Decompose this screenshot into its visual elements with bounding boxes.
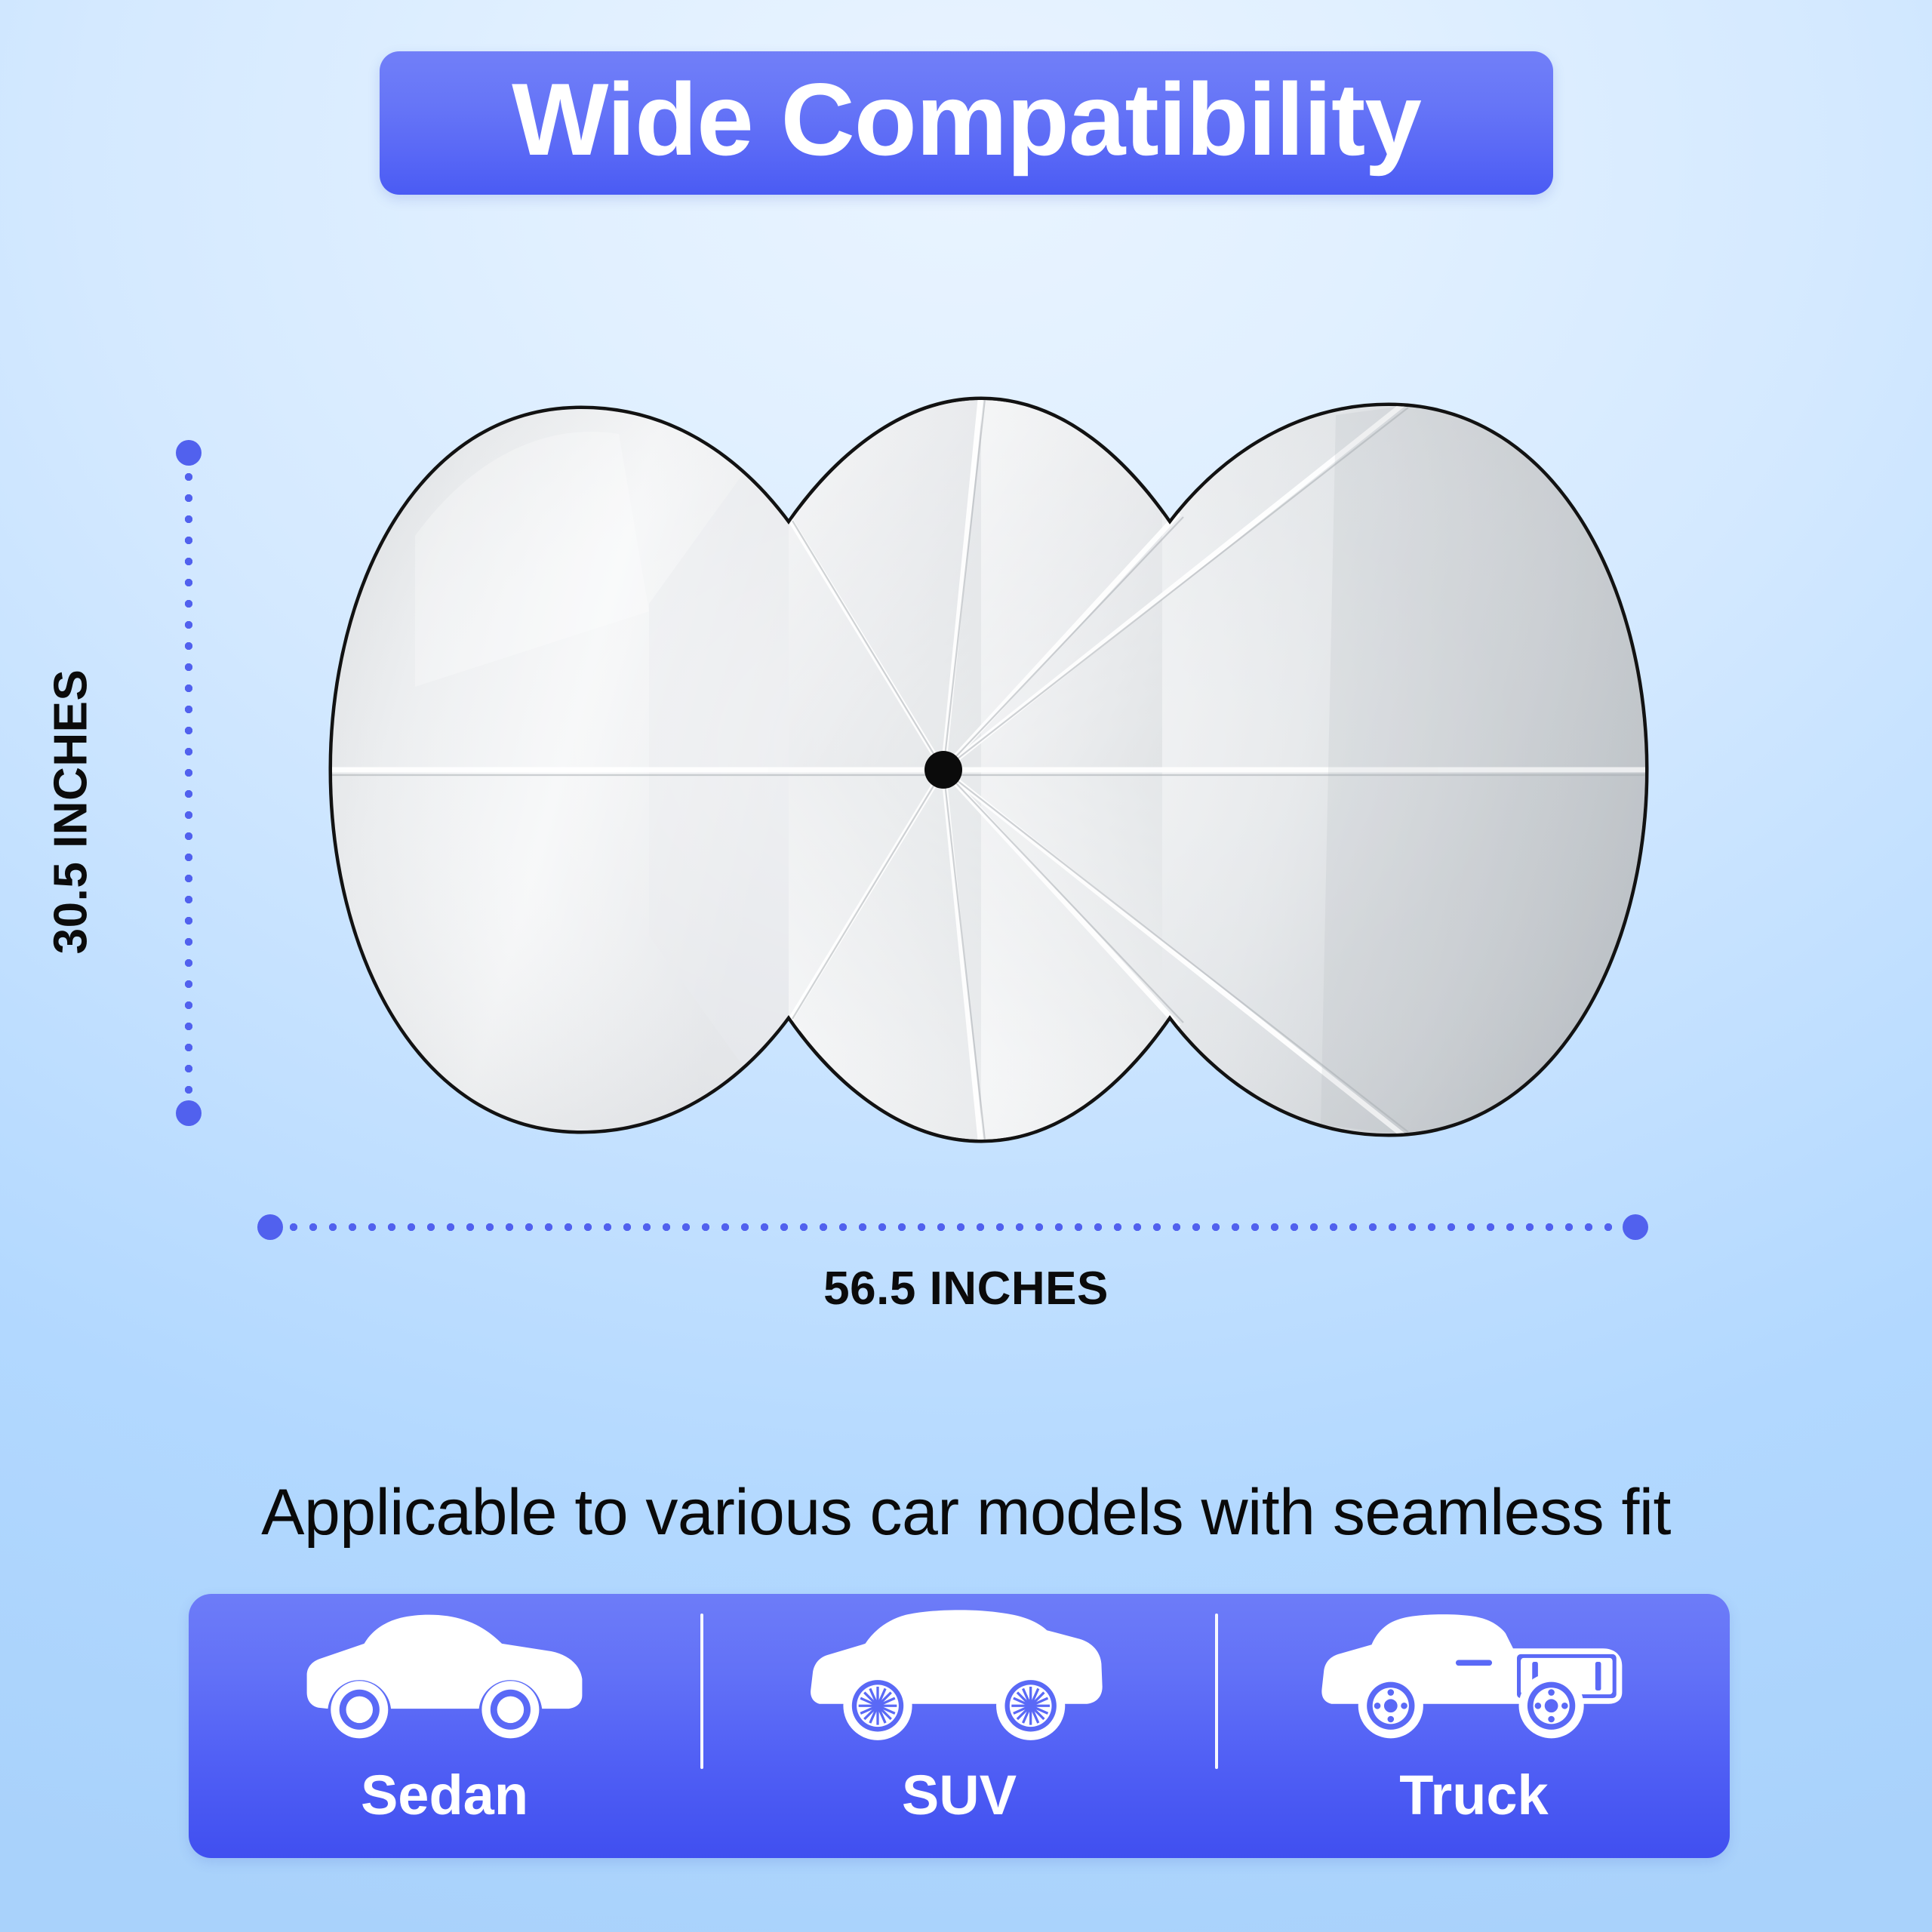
width-dimension-dot-right xyxy=(1623,1214,1648,1240)
sedan-icon xyxy=(301,1604,588,1748)
width-dimension-dot-left xyxy=(257,1214,283,1240)
infographic-canvas: Wide Compatibility xyxy=(0,0,1932,1932)
height-dimension-dot-bottom xyxy=(176,1100,202,1126)
vehicle-compatibility-panel: Sedan xyxy=(189,1594,1730,1858)
height-dimension-line xyxy=(183,466,194,1102)
title-banner: Wide Compatibility xyxy=(380,51,1553,195)
width-dimension-label: 56.5 INCHES xyxy=(0,1262,1932,1315)
height-dimension-dot-top xyxy=(176,440,202,466)
height-dimension-label: 30.5 INCHES xyxy=(45,601,98,1023)
sunshade-svg xyxy=(226,362,1706,1177)
sunshade-panels xyxy=(302,377,1690,1177)
vehicle-label-suv: SUV xyxy=(902,1767,1017,1823)
vehicle-cell-truck[interactable]: Truck xyxy=(1218,1594,1730,1858)
product-illustration xyxy=(226,362,1706,1177)
vehicle-cell-suv[interactable]: SUV xyxy=(703,1594,1215,1858)
page-title: Wide Compatibility xyxy=(512,68,1421,178)
suv-icon xyxy=(806,1604,1112,1748)
vehicle-label-truck: Truck xyxy=(1399,1767,1548,1823)
vehicle-cell-sedan[interactable]: Sedan xyxy=(189,1594,700,1858)
sunshade-center-hub xyxy=(924,751,962,789)
subheading-text: Applicable to various car models with se… xyxy=(0,1475,1932,1550)
vehicle-label-sedan: Sedan xyxy=(361,1767,528,1823)
width-dimension-line xyxy=(284,1222,1624,1232)
truck-icon xyxy=(1316,1604,1632,1748)
